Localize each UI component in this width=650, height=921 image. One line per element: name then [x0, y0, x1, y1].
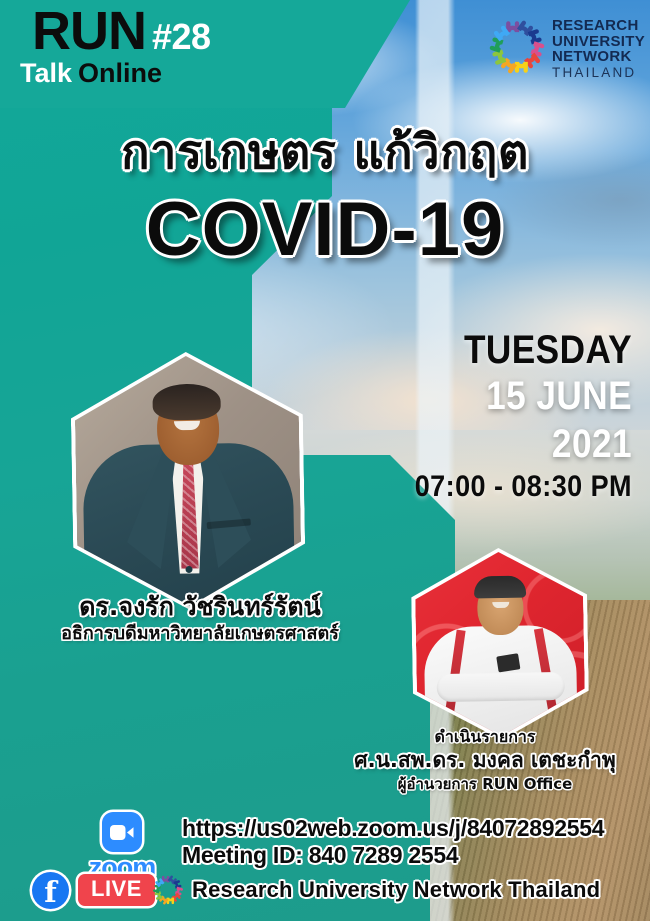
speaker-photo-frame [70, 350, 306, 612]
talk-word: Talk [20, 58, 72, 88]
moderator-portrait [414, 551, 585, 738]
event-time: 07:00 - 08:30 PM [396, 468, 632, 506]
page-title-english: COVID-19 [0, 186, 650, 273]
portrait-cap [474, 575, 526, 598]
zoom-app-badge [102, 812, 142, 852]
event-date: 15 JUNE 2021 [401, 372, 632, 468]
moderator-name: ศ.น.สพ.ดร. มงคล เตชะกำพุ [330, 747, 640, 774]
portrait-hair [152, 383, 221, 420]
logo-line-network: NETWORK [552, 49, 645, 65]
speaker-caption: ดร.จงรัก วัชรินทร์รัตน์ อธิการบดีมหาวิทย… [20, 592, 380, 646]
jacket-badge [496, 653, 520, 672]
facebook-letter: f [44, 878, 56, 907]
run-thailand-logo: RESEARCH UNIVERSITY NETWORK THAILAND [486, 10, 642, 84]
moderator-photo-frame [410, 546, 589, 741]
logo-line-thailand: THAILAND [552, 65, 645, 81]
run-logo-text: RESEARCH UNIVERSITY NETWORK THAILAND [552, 18, 645, 80]
speaker-name: ดร.จงรัก วัชรินทร์รัตน์ [20, 592, 380, 622]
moderator-role: ผู้อำนวยการ RUN Office [330, 774, 640, 795]
facebook-icon[interactable]: f [32, 872, 69, 909]
zoom-join-url[interactable]: https://us02web.zoom.us/j/84072892554 [182, 814, 604, 843]
talk-online-label: TalkOnline [20, 60, 162, 87]
facebook-page-name[interactable]: Research University Network Thailand [192, 875, 600, 905]
moderator-caption: ดำเนินรายการ ศ.น.สพ.ดร. มงคล เตชะกำพุ ผู… [330, 726, 640, 795]
logo-line-research: RESEARCH [552, 18, 645, 34]
poster-canvas: RUN #28 TalkOnline RESEARCH UNIVERSI [0, 0, 650, 921]
run-wordmark: RUN [32, 4, 146, 58]
run-circle-mark-icon [486, 16, 548, 78]
page-title-thai: การเกษตร แก้วิกฤต [0, 114, 650, 189]
portrait-folded-arms [437, 672, 565, 702]
live-label: LIVE [91, 876, 142, 901]
schedule-block: TUESDAY 15 JUNE 2021 07:00 - 08:30 PM [370, 328, 632, 506]
zoom-logo: zoom [78, 812, 166, 874]
video-camera-icon [110, 825, 134, 840]
portrait-button [185, 566, 192, 573]
meeting-id: Meeting ID: 840 7289 2554 [182, 841, 458, 870]
episode-number: #28 [152, 16, 211, 58]
event-day: TUESDAY [401, 328, 632, 372]
speaker-portrait [74, 354, 302, 608]
online-word: Online [78, 58, 162, 88]
live-badge: LIVE [78, 874, 155, 906]
logo-line-university: UNIVERSITY [552, 34, 645, 50]
run-circle-mark-icon [152, 874, 184, 906]
speaker-role: อธิการบดีมหาวิทยาลัยเกษตรศาสตร์ [20, 622, 380, 646]
moderator-lead-label: ดำเนินรายการ [330, 726, 640, 747]
